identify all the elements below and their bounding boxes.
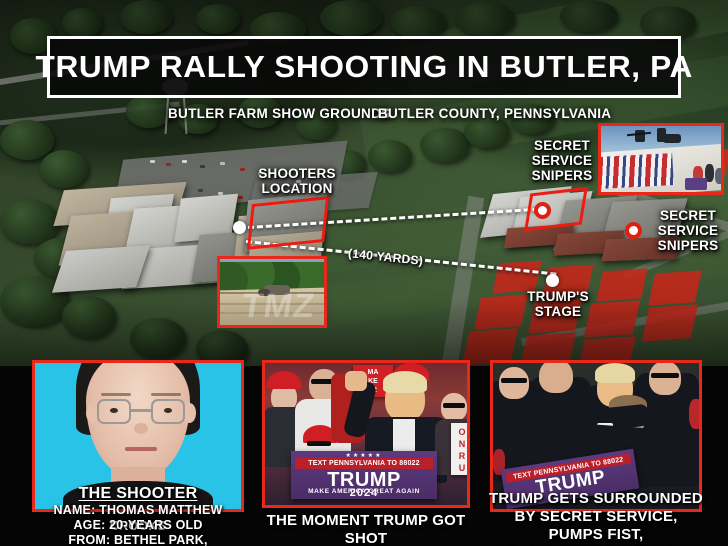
crowd-figure: [689, 399, 702, 429]
crowd-sign-letter: O: [451, 427, 470, 437]
shooter-age-line: AGE: 20-YEARS OLD: [24, 518, 252, 534]
eyebrow-left: [101, 393, 131, 396]
american-flag-bunting: [598, 153, 674, 189]
mouth: [125, 447, 157, 451]
eyebrow-right: [151, 393, 181, 396]
label-shooters-location: SHOOTERS LOCATION: [232, 166, 362, 196]
page-title: TRUMP RALLY SHOOTING IN BUTLER, PA: [35, 49, 692, 85]
trump-stage-marker: [546, 274, 559, 287]
sniper-marker-1: [534, 202, 551, 219]
title-banner: TRUMP RALLY SHOOTING IN BUTLER, PA: [47, 36, 681, 98]
agent-head: [539, 360, 573, 393]
crowd-figure: [715, 168, 724, 184]
nose: [134, 423, 148, 434]
sunglasses: [651, 373, 679, 378]
podium-text-line: TEXT PENNSYLVANIA TO 88022: [308, 460, 420, 467]
podium-year: 2024: [291, 487, 437, 499]
crowd-sign-letter: N: [451, 439, 470, 449]
label-trumps-stage: TRUMP'S STAGE: [512, 289, 604, 319]
crowd-sign-letter: R: [451, 451, 470, 461]
eye-left: [110, 408, 118, 413]
inset-rooftop-photo: TMZ: [217, 256, 327, 328]
maga-cap: [267, 371, 301, 389]
caption-surrounded: TRUMP GETS SURROUNDED BY SECRET SERVICE,…: [486, 490, 706, 546]
label-secret-service-snipers-right: SECRET SERVICE SNIPERS: [648, 208, 728, 253]
trump-hair: [595, 363, 635, 383]
subtitle-venue: BUTLER FARM SHOW GROUNDS: [168, 106, 390, 121]
sunglasses: [307, 441, 331, 446]
panel-moment-shot-photo: MA KE 22 O N R U ★★★★★ TEXT PENNSYLVANIA…: [262, 360, 470, 508]
agent-head: [499, 367, 529, 399]
infographic-root: (140 YARDS) SHOOTERS LOCATION SECRET SER…: [0, 0, 728, 546]
tmz-watermark: TMZ: [239, 287, 317, 326]
podium-text-bar: TEXT PENNSYLVANIA TO 88022: [295, 458, 432, 469]
subtitle-county: BUTLER COUNTY, PENNSYLVANIA: [378, 106, 611, 121]
sniper-gear: [663, 134, 681, 143]
podium: [685, 178, 707, 190]
panel-overlay-title-text: THE SHOOTER: [79, 485, 198, 502]
eyeglass-bridge: [131, 409, 151, 412]
sniper-marker-2: [625, 222, 642, 239]
hand: [345, 371, 367, 391]
label-secret-service-snipers-top: SECRET SERVICE SNIPERS: [520, 138, 604, 183]
inset-secret-service-snipers-photo: [598, 123, 724, 195]
caption-moment-shot: THE MOMENT TRUMP GOT SHOT: [258, 512, 474, 546]
panel-overlay-title: THE SHOOTER: [35, 485, 241, 503]
shooter-from-line: FROM: BETHEL PARK, PENNSYLVANIA: [24, 533, 252, 546]
shooters-roof-outline: [247, 196, 329, 250]
crowd-sign: O N R U: [451, 423, 470, 475]
shooter-position-marker: [233, 221, 246, 234]
panel-shooter-photo: THE SHOOTER: [32, 360, 244, 512]
sunglasses: [443, 403, 465, 408]
sunglasses: [501, 378, 527, 383]
crowd-sign-letter: U: [451, 463, 470, 473]
eye-right: [164, 408, 172, 413]
agent-head: [649, 361, 681, 395]
trump-hair: [383, 371, 427, 393]
